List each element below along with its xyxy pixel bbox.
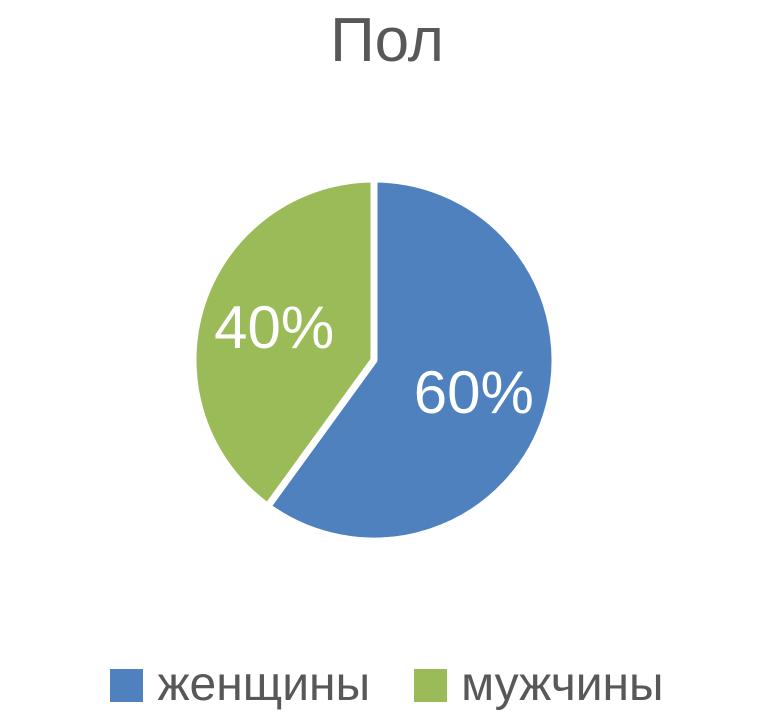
legend-item-men[interactable]: мужчины bbox=[414, 660, 663, 710]
pie-plot-area: 60% 40% bbox=[0, 150, 774, 580]
legend-label-women: женщины bbox=[157, 660, 370, 710]
pie-svg: 60% 40% bbox=[0, 150, 774, 580]
legend-swatch-men-icon bbox=[414, 669, 447, 702]
pie-data-label-men: 40% bbox=[214, 294, 334, 361]
legend-swatch-women-icon bbox=[110, 669, 143, 702]
pie-data-label-women: 60% bbox=[414, 359, 534, 426]
chart-title: Пол bbox=[0, 4, 774, 78]
legend-label-men: мужчины bbox=[461, 660, 663, 710]
chart-legend: женщины мужчины bbox=[0, 655, 774, 715]
legend-item-women[interactable]: женщины bbox=[110, 660, 370, 710]
pie-chart-figure: Пол 60% 40% женщины мужчины bbox=[0, 0, 774, 722]
